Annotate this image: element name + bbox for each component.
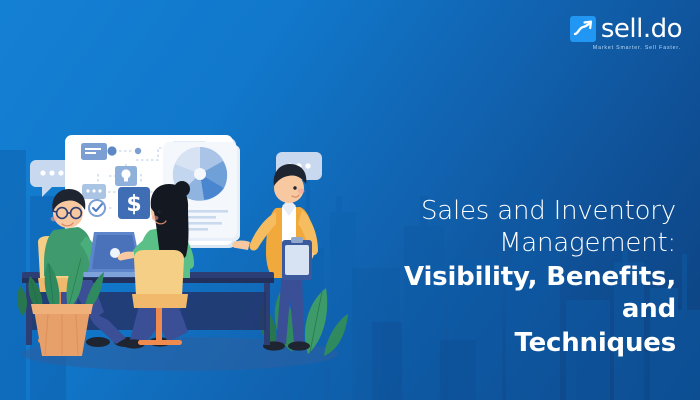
dollar-icon: $ bbox=[118, 187, 150, 219]
headline-line-3: Visibility, Benefits, and bbox=[376, 262, 676, 326]
logo-wordmark: sell.do bbox=[601, 16, 682, 42]
headline-line-1: Sales and Inventory bbox=[376, 196, 676, 228]
headline-line-4: Techniques bbox=[376, 328, 676, 360]
brand-logo[interactable]: sell.do Market Smarter. Sell Faster. bbox=[562, 16, 682, 58]
list-icon bbox=[82, 184, 106, 199]
logo-row: sell.do bbox=[570, 16, 682, 42]
growth-arrow-icon bbox=[570, 16, 596, 42]
headline-line-2: Management: bbox=[376, 228, 676, 260]
logo-tagline: Market Smarter. Sell Faster. bbox=[593, 45, 681, 51]
team-meeting-illustration: $ bbox=[8, 112, 348, 374]
document-icon bbox=[81, 143, 107, 160]
page-title: Sales and Inventory Management: Visibili… bbox=[376, 196, 676, 360]
check-icon bbox=[89, 200, 105, 216]
lightbulb-icon bbox=[115, 166, 137, 186]
banner: sell.do Market Smarter. Sell Faster. bbox=[0, 0, 700, 400]
svg-text:$: $ bbox=[126, 192, 141, 217]
